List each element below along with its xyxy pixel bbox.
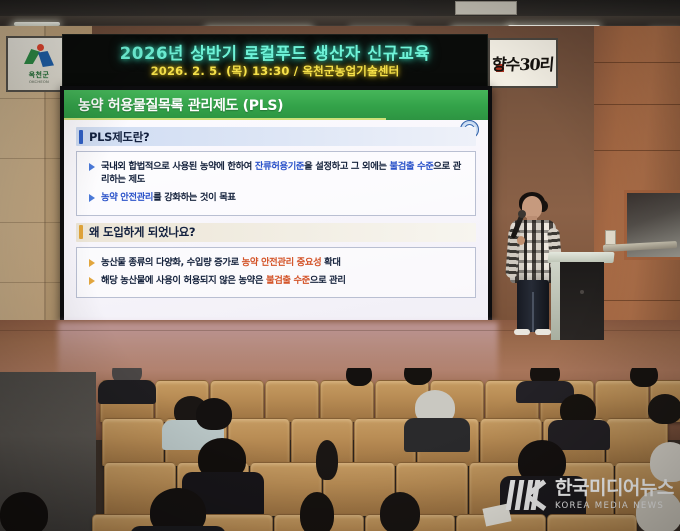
right-wall [594,26,680,336]
watermark-korean: 한국미디어뉴스 [555,479,674,499]
slide-section-heading: 왜 도입하게 되었나요? [76,223,476,242]
bullet-part: 국내외 합법적으로 사용된 농약에 한하여 [101,161,255,172]
bullet-triangle-icon [89,163,95,171]
bullet-triangle-icon [89,194,95,202]
calligraphy-text: 향수30리 [491,51,555,75]
projection-screen: 농약 허용물질목록 관리제도 (PLS) PLS제도란? 국내외 합법적으로 사… [60,86,492,325]
attendee-head [300,492,334,531]
presenter-shoe [514,329,530,335]
slide-bullet: 농산물 종류의 다양화, 수입량 증가로 농약 안전관리 중요성 확대 [85,256,467,269]
county-logo-sublabel: OKCHEON [29,80,49,84]
led-banner-title: 2026년 상반기 로컬푸드 생산자 신규교육 [120,45,430,63]
lectern-front-panel [560,262,604,340]
bullet-text: 농산물 종류의 다양화, 수입량 증가로 농약 안전관리 중요성 확대 [101,256,341,269]
bullet-part: 를 강화하는 것이 목표 [153,192,236,203]
lectern-button[interactable] [580,290,584,294]
presenter-leg-seam [532,292,534,332]
hk-monogram-icon [508,478,548,512]
logo-green-stroke-icon [24,49,40,64]
seat [265,380,319,422]
slide-section-heading: PLS제도란? [76,127,476,146]
logo-dot-icon [37,44,44,51]
bullet-part: 으로 관리 [310,275,346,286]
bullet-text: 국내외 합법적으로 사용된 농약에 한하여 잔류허용기준을 설정하고 그 외에는… [101,160,467,186]
led-banner: 2026년 상반기 로컬푸드 생산자 신규교육 2026. 2. 5. (목) … [62,34,488,88]
bullet-part-highlight: 잔류허용기준 [255,161,304,172]
section-accent-bar [79,130,83,144]
attendee-head [196,398,232,430]
attendee-head-grey-hair [650,442,680,482]
seat [547,514,637,531]
county-logo-label: 옥천군 [29,70,50,80]
calligraphy-plaque: 향수30리 [488,38,558,88]
slide-bullet: 국내외 합법적으로 사용된 농약에 한하여 잔류허용기준을 설정하고 그 외에는… [85,160,467,186]
slide-bullet: 해당 농산물에 사용이 허용되지 않은 농약은 불검출 수준으로 관리 [85,274,467,287]
attendee-head [0,492,48,531]
wall-seam [594,300,680,301]
slide-section-box: 농산물 종류의 다양화, 수입량 증가로 농약 안전관리 중요성 확대 해당 농… [76,247,476,298]
presenter-shoe [535,329,551,335]
bullet-part: 해당 농산물에 사용이 허용되지 않은 농약은 [101,275,266,286]
seat [102,418,164,466]
wall-seam [594,150,680,151]
logo-blue-stroke-icon [38,51,54,67]
section-accent-bar [79,225,83,239]
bullet-part-highlight: 불검출 수준 [266,275,310,286]
attendee-head [630,368,658,387]
seat [320,380,374,422]
attendee-head [648,394,680,424]
auditorium-photo: 옥천군 OKCHEON 2026년 상반기 로컬푸드 생산자 신규교육 2026… [0,0,680,531]
watermark-text: 한국미디어뉴스 KOREA MEDIA NEWS [555,479,674,511]
presenter-hand [517,236,525,245]
led-banner-subtitle: 2026. 2. 5. (목) 13:30 / 옥천군농업기술센터 [151,65,400,78]
light-switch[interactable] [605,230,616,245]
bullet-text: 해당 농산물에 사용이 허용되지 않은 농약은 불검출 수준으로 관리 [101,274,346,287]
slide-section-box: 국내외 합법적으로 사용된 농약에 한하여 잔류허용기준을 설정하고 그 외에는… [76,151,476,216]
bullet-part: 확대 [321,257,340,268]
bullet-part-highlight: 농약 안전관리 [101,192,153,203]
bullet-triangle-icon [89,277,95,285]
slide-title: 농약 허용물질목록 관리제도 (PLS) [78,95,283,115]
attendee-shoulders [98,380,156,404]
attendee-head [150,488,206,531]
bullet-part-highlight: 농약 안전관리 중요성 [242,257,322,268]
microphone-head-icon [518,210,526,218]
watermark: 한국미디어뉴스 KOREA MEDIA NEWS [508,478,674,512]
bullet-triangle-icon [89,259,95,267]
bullet-text: 농약 안전관리를 강화하는 것이 목표 [101,191,236,204]
bullet-part-highlight: 불검출 수준 [390,161,434,172]
section-heading-label: PLS제도란? [89,129,149,145]
ceiling-band [0,16,680,25]
attendee-shoulders [404,418,470,452]
watermark-english: KOREA MEDIA NEWS [555,501,674,511]
attendee-head [346,368,372,386]
slide-title-bar: 농약 허용물질목록 관리제도 (PLS) [64,90,488,120]
slide-bullet: 농약 안전관리를 강화하는 것이 목표 [85,191,467,204]
ceiling-sign [455,1,517,15]
attendee-head [380,492,420,531]
attendee-head [316,440,338,480]
wall-seam [594,104,680,105]
attendee-shoulders [130,526,226,531]
wall-seam [594,62,680,63]
attendee-head [404,368,432,385]
slide-body: PLS제도란? 국내외 합법적으로 사용된 농약에 한하여 잔류허용기준을 설정… [64,120,488,298]
presentation-slide: 농약 허용물질목록 관리제도 (PLS) PLS제도란? 국내외 합법적으로 사… [64,90,488,321]
county-logo-mark [21,44,57,68]
bullet-part: 을 설정하고 그 외에는 [304,161,389,172]
section-heading-label: 왜 도입하게 되었나요? [89,224,195,240]
bullet-part: 농산물 종류의 다양화, 수입량 증가로 [101,257,242,268]
